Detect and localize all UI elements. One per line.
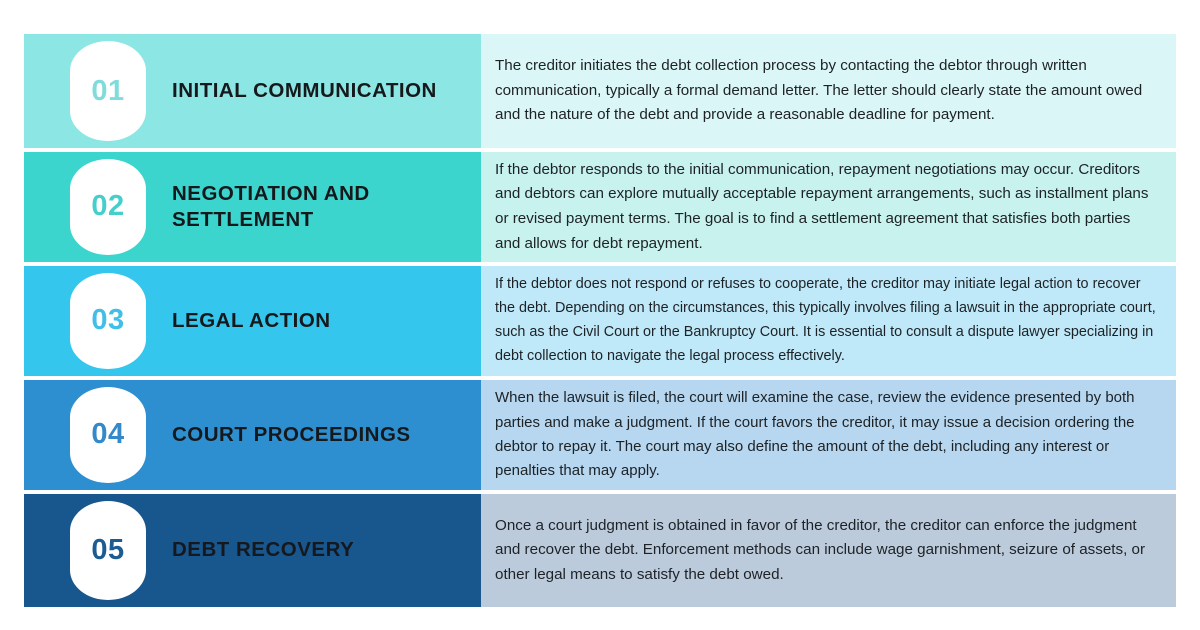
step-title: COURT PROCEEDINGS — [172, 422, 411, 448]
step-left-band: 05 DEBT RECOVERY — [24, 494, 481, 607]
step-description: The creditor initiates the debt collecti… — [495, 54, 1158, 128]
step-row: 03 LEGAL ACTION If the debtor does not r… — [24, 266, 1176, 376]
step-left-band: 01 INITIAL COMMUNICATION — [24, 34, 481, 148]
step-left-band: 02 NEGOTIATION AND SETTLEMENT — [24, 152, 481, 262]
step-number-badge: 04 — [70, 387, 146, 484]
step-row: 05 DEBT RECOVERY Once a court judgment i… — [24, 494, 1176, 607]
step-title: INITIAL COMMUNICATION — [172, 78, 437, 104]
step-number: 03 — [91, 306, 124, 335]
step-description-panel: When the lawsuit is filed, the court wil… — [481, 380, 1176, 490]
debt-collection-process-infographic: 01 INITIAL COMMUNICATION The creditor in… — [24, 34, 1176, 607]
step-description: If the debtor does not respond or refuse… — [495, 273, 1158, 369]
step-number-badge: 03 — [70, 273, 146, 370]
step-number: 04 — [91, 420, 124, 449]
step-title: DEBT RECOVERY — [172, 537, 354, 563]
step-left-band: 03 LEGAL ACTION — [24, 266, 481, 376]
step-description-panel: If the debtor does not respond or refuse… — [481, 266, 1176, 376]
step-number: 02 — [91, 192, 124, 221]
step-description-panel: Once a court judgment is obtained in fav… — [481, 494, 1176, 607]
step-row: 02 NEGOTIATION AND SETTLEMENT If the deb… — [24, 152, 1176, 262]
step-row: 04 COURT PROCEEDINGS When the lawsuit is… — [24, 380, 1176, 490]
step-description: If the debtor responds to the initial co… — [495, 158, 1158, 257]
step-row: 01 INITIAL COMMUNICATION The creditor in… — [24, 34, 1176, 148]
step-title: LEGAL ACTION — [172, 308, 331, 334]
step-number-badge: 02 — [70, 159, 146, 256]
step-number-badge: 01 — [70, 41, 146, 141]
step-number-badge: 05 — [70, 501, 146, 600]
step-description: When the lawsuit is filed, the court wil… — [495, 386, 1158, 483]
step-left-band: 04 COURT PROCEEDINGS — [24, 380, 481, 490]
step-description-panel: The creditor initiates the debt collecti… — [481, 34, 1176, 148]
step-description-panel: If the debtor responds to the initial co… — [481, 152, 1176, 262]
step-title: NEGOTIATION AND SETTLEMENT — [172, 181, 472, 233]
step-number: 05 — [91, 536, 124, 565]
step-description: Once a court judgment is obtained in fav… — [495, 514, 1158, 588]
step-number: 01 — [91, 77, 124, 106]
